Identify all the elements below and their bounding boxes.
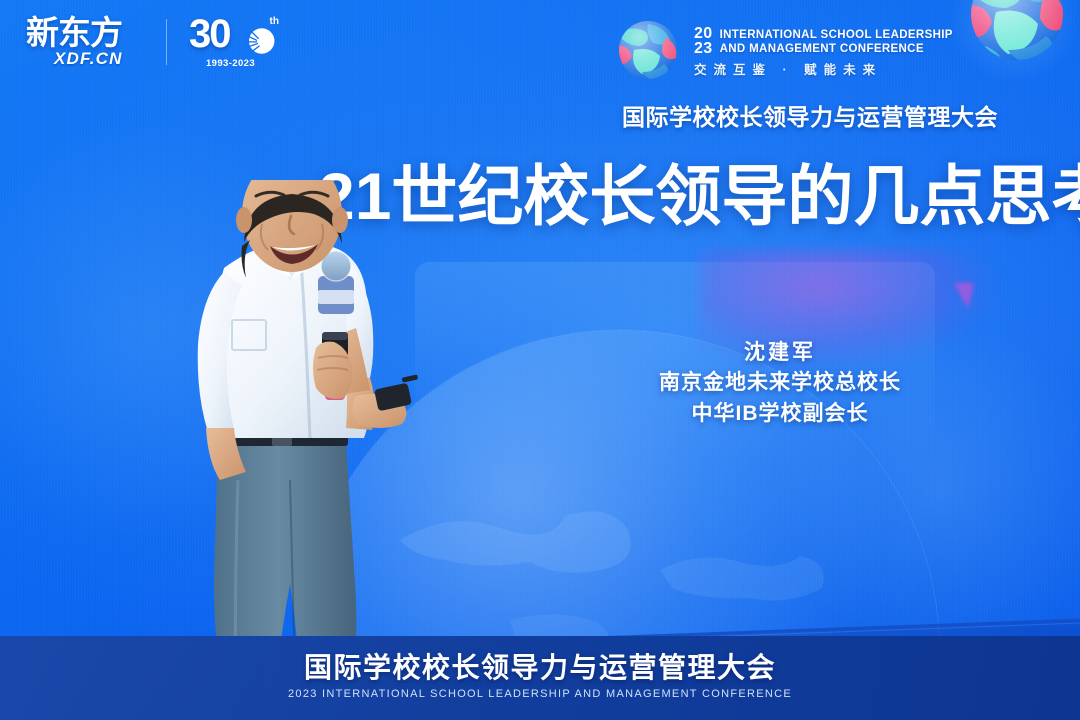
xdf-logo-en: XDF.CN bbox=[54, 50, 123, 67]
bottom-banner: 国际学校校长领导力与运营管理大会 2023 INTERNATIONAL SCHO… bbox=[0, 636, 1080, 720]
anniversary-years: 1993-2023 bbox=[206, 58, 255, 69]
conference-tagline: 交流互鉴 · 赋能未来 bbox=[694, 59, 953, 78]
brand-divider bbox=[166, 19, 167, 65]
globe-icon bbox=[962, 0, 1072, 72]
conference-title-zh: 国际学校校长领导力与运营管理大会 bbox=[622, 98, 998, 132]
anniversary-logo: 30 th 1993-2023 bbox=[189, 14, 281, 70]
conference-stage-photo: 新东方 XDF.CN 30 th 1993-2023 bbox=[0, 0, 1080, 720]
banner-text-block: 国际学校校长领导力与运营管理大会 2023 INTERNATIONAL SCHO… bbox=[0, 652, 1080, 700]
anniversary-burst-icon bbox=[243, 24, 277, 58]
conference-year-bottom: 23 bbox=[694, 42, 713, 57]
xdf-logo: 新东方 XDF.CN bbox=[26, 16, 144, 68]
conference-logo-text: 20 23 INTERNATIONAL SCHOOL LEADERSHIP AN… bbox=[694, 16, 953, 78]
anniversary-suffix: th bbox=[270, 16, 279, 27]
speaker-role-line2: 中华IB学校副会长 bbox=[560, 399, 1000, 429]
speaker-name: 沈建军 bbox=[560, 338, 1000, 368]
brand-lockup: 新东方 XDF.CN 30 th 1993-2023 bbox=[26, 14, 281, 70]
speaker-credits: 沈建军 南京金地未来学校总校长 中华IB学校副会长 bbox=[560, 338, 1000, 429]
conference-english-line2: AND MANAGEMENT CONFERENCE bbox=[720, 42, 953, 56]
conference-logo-header: 20 23 INTERNATIONAL SCHOOL LEADERSHIP AN… bbox=[612, 16, 953, 88]
speaker-role-line1: 南京金地未来学校总校长 bbox=[560, 368, 1000, 398]
banner-title-zh: 国际学校校长领导力与运营管理大会 bbox=[0, 652, 1080, 683]
xdf-logo-zh: 新东方 bbox=[26, 16, 122, 49]
conference-english-line1: INTERNATIONAL SCHOOL LEADERSHIP bbox=[720, 28, 953, 42]
globe-icon bbox=[612, 16, 684, 88]
banner-subtitle-en: 2023 INTERNATIONAL SCHOOL LEADERSHIP AND… bbox=[0, 688, 1080, 700]
